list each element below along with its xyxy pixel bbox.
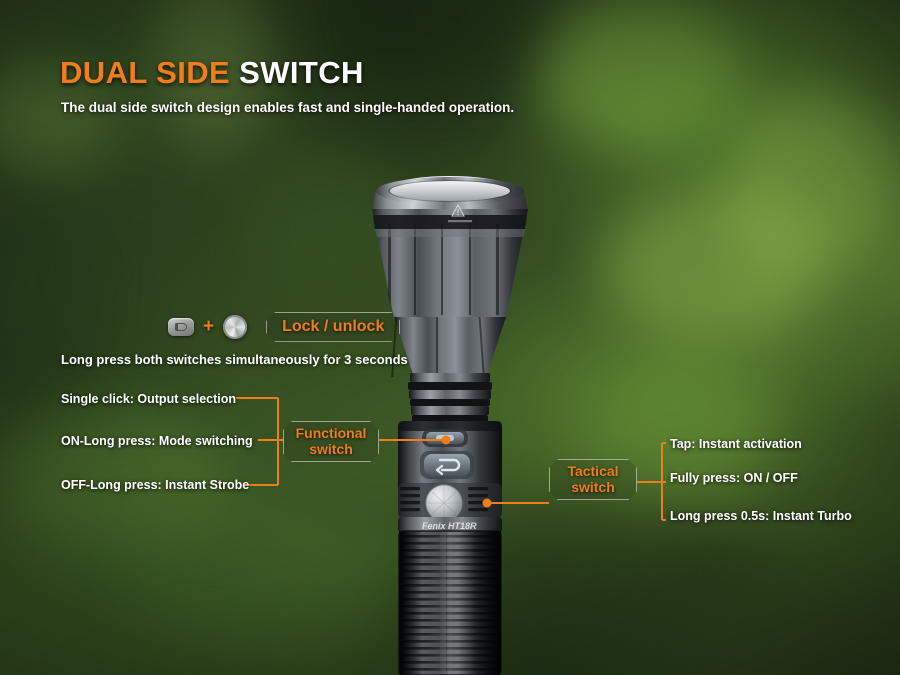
- tactical-item-2: Fully press: ON / OFF: [670, 471, 798, 485]
- page-title: DUAL SIDE SWITCH: [60, 55, 364, 91]
- tactical-badge-line1: Tactical: [567, 464, 618, 480]
- infographic-canvas: Fenix HT18R: [0, 0, 900, 675]
- lock-unlock-badge: Lock / unlock: [266, 312, 400, 342]
- tactical-item-3: Long press 0.5s: Instant Turbo: [670, 509, 852, 523]
- tactical-switch-badge: Tactical switch: [549, 459, 637, 500]
- lock-unlock-note: Long press both switches simultaneously …: [61, 352, 408, 367]
- tactical-switch-button: [426, 485, 462, 521]
- functional-item-2: ON-Long press: Mode switching: [61, 434, 253, 448]
- brand-model-text: Fenix HT18R: [422, 521, 477, 531]
- functional-badge-line2: switch: [309, 442, 353, 458]
- title-accent: DUAL SIDE: [60, 55, 239, 90]
- round-switch-icon: [223, 315, 247, 339]
- functional-switch-badge: Functional switch: [283, 421, 379, 462]
- tactical-item-1: Tap: Instant activation: [670, 437, 802, 451]
- functional-item-3: OFF-Long press: Instant Strobe: [61, 478, 249, 492]
- rectangular-switch-icon: [168, 318, 194, 336]
- title-plain: SWITCH: [239, 55, 364, 90]
- flashlight-product-image: Fenix HT18R: [336, 165, 564, 675]
- plus-icon: +: [203, 317, 214, 336]
- functional-switch-button: [426, 432, 464, 444]
- warning-triangle-icon: [448, 205, 472, 222]
- tactical-badge-line2: switch: [571, 480, 615, 496]
- page-subtitle: The dual side switch design enables fast…: [61, 100, 514, 115]
- functional-badge-line1: Functional: [296, 426, 367, 442]
- functional-item-1: Single click: Output selection: [61, 392, 236, 406]
- lock-unlock-row: + Lock / unlock: [168, 312, 400, 342]
